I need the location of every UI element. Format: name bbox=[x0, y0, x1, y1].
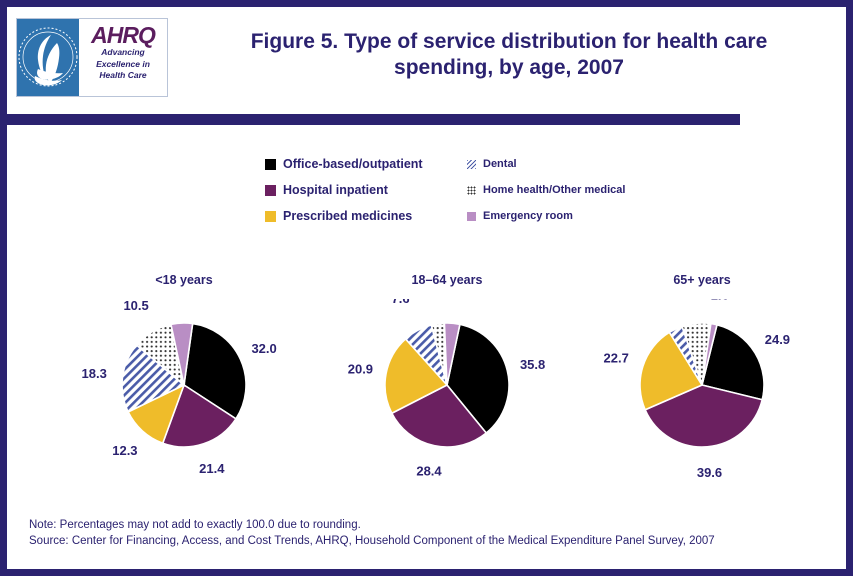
figure-title-line2: spending, by age, 2007 bbox=[179, 55, 839, 81]
legend-item-office-based-outpatient: Office-based/outpatient bbox=[265, 151, 423, 177]
ahrq-tagline-line2: Excellence in bbox=[96, 60, 150, 70]
pie-canvas-18-64: 35.828.420.97.63.44.0 bbox=[312, 299, 582, 495]
legend-item-hospital-inpatient: Hospital inpatient bbox=[265, 177, 423, 203]
pie-title-18-64: 18–64 years bbox=[312, 273, 582, 287]
pie-svg: 24.939.622.73.67.51.6 bbox=[567, 299, 837, 495]
pie-slice-label: 24.9 bbox=[765, 332, 790, 347]
pie-slice-label: 20.9 bbox=[348, 362, 373, 377]
pie-svg: 35.828.420.97.63.44.0 bbox=[312, 299, 582, 495]
pie-slice-label: 39.6 bbox=[697, 465, 722, 480]
pie-chart-18-64: 18–64 years 35.828.420.97.63.44.0 bbox=[312, 265, 582, 495]
pie-slice-label: 21.4 bbox=[199, 461, 225, 476]
legend-column-left: Office-based/outpatientHospital inpatien… bbox=[265, 151, 423, 229]
slide-canvas: AHRQ Advancing Excellence in Health Care… bbox=[7, 7, 846, 569]
figure-title-line1: Figure 5. Type of service distribution f… bbox=[179, 29, 839, 55]
pie-canvas-under-18: 32.021.412.318.310.55.6 bbox=[49, 299, 319, 495]
legend-label: Home health/Other medical bbox=[483, 184, 625, 196]
legend-swatch-icon bbox=[265, 211, 276, 222]
legend-label: Prescribed medicines bbox=[283, 209, 412, 223]
legend-swatch-icon bbox=[467, 186, 476, 195]
legend-label: Dental bbox=[483, 158, 517, 170]
pie-canvas-65-plus: 24.939.622.73.67.51.6 bbox=[567, 299, 837, 495]
pie-slice-label: 1.6 bbox=[711, 299, 729, 303]
pie-title-65-plus: 65+ years bbox=[567, 273, 837, 287]
ahrq-brand-text: AHRQ bbox=[91, 24, 155, 46]
figure-title: Figure 5. Type of service distribution f… bbox=[179, 29, 839, 81]
pie-chart-under-18: <18 years 32.021.412.318.310.55.6 bbox=[49, 265, 319, 495]
ahrq-wordmark: AHRQ Advancing Excellence in Health Care bbox=[79, 19, 167, 96]
footnote-source: Source: Center for Financing, Access, an… bbox=[29, 533, 819, 549]
legend-swatch-icon bbox=[265, 185, 276, 196]
pie-slice-label: 10.5 bbox=[123, 299, 148, 313]
legend-item-dental: Dental bbox=[467, 151, 625, 177]
header-divider bbox=[7, 114, 740, 125]
pie-slice-label: 18.3 bbox=[82, 366, 107, 381]
pie-slice-label: 28.4 bbox=[416, 464, 442, 479]
pie-slice-label: 22.7 bbox=[604, 351, 629, 366]
ahrq-logo: AHRQ Advancing Excellence in Health Care bbox=[16, 18, 168, 97]
legend-item-prescribed-medicines: Prescribed medicines bbox=[265, 203, 423, 229]
legend-swatch-icon bbox=[467, 212, 476, 221]
ahrq-tagline-line1: Advancing bbox=[101, 48, 144, 58]
footnotes: Note: Percentages may not add to exactly… bbox=[29, 517, 819, 549]
legend-label: Office-based/outpatient bbox=[283, 157, 423, 171]
pie-slice-label: 7.6 bbox=[392, 299, 410, 306]
dhhs-seal-graphic bbox=[17, 19, 79, 96]
legend-item-emergency-room: Emergency room bbox=[467, 203, 625, 229]
ahrq-tagline-line3: Health Care bbox=[99, 71, 146, 81]
slide-header: AHRQ Advancing Excellence in Health Care… bbox=[7, 7, 846, 107]
pie-slice-label: 35.8 bbox=[520, 357, 545, 372]
dhhs-seal-icon bbox=[17, 19, 79, 96]
pie-slice-label: 32.0 bbox=[251, 341, 276, 356]
legend-swatch-icon bbox=[265, 159, 276, 170]
footnote-note: Note: Percentages may not add to exactly… bbox=[29, 517, 819, 533]
legend-label: Emergency room bbox=[483, 210, 573, 222]
legend-item-home-health-other-medical: Home health/Other medical bbox=[467, 177, 625, 203]
slide-frame: AHRQ Advancing Excellence in Health Care… bbox=[0, 0, 853, 576]
pie-chart-65-plus: 65+ years 24.939.622.73.67.51.6 bbox=[567, 265, 837, 495]
pie-chart-group: <18 years 32.021.412.318.310.55.6 18–64 … bbox=[7, 265, 846, 495]
legend-label: Hospital inpatient bbox=[283, 183, 388, 197]
pie-slice-label: 12.3 bbox=[112, 443, 137, 458]
legend-column-right: DentalHome health/Other medicalEmergency… bbox=[467, 151, 625, 229]
pie-title-under-18: <18 years bbox=[49, 273, 319, 287]
legend-swatch-icon bbox=[467, 160, 476, 169]
pie-svg: 32.021.412.318.310.55.6 bbox=[49, 299, 319, 495]
